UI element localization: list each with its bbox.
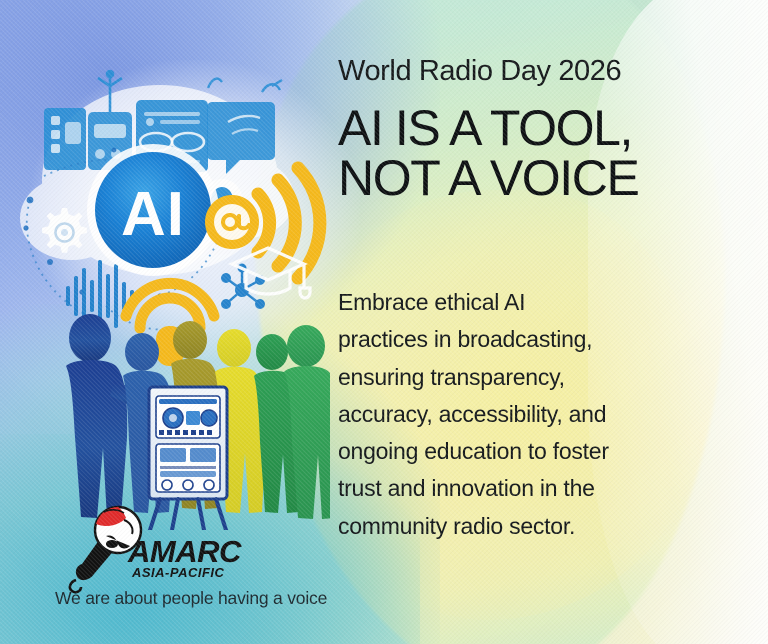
page-title: AI IS A TOOL, NOT A VOICE <box>338 104 728 203</box>
ai-badge-label: AI <box>121 180 185 249</box>
amarc-wordmark: AMARC <box>127 534 242 569</box>
body-line: accuracy, accessibility, and <box>338 396 716 433</box>
body-line: ongoing education to foster <box>338 433 716 470</box>
music-note-icon <box>208 79 282 92</box>
headline-line-2: NOT A VOICE <box>338 154 728 204</box>
logo-tagline: We are about people having a voice <box>55 588 327 609</box>
world-radio-day-poster: AI <box>0 0 768 644</box>
amarc-region: ASIA-PACIFIC <box>131 565 225 580</box>
body-line: ensuring transparency, <box>338 359 716 396</box>
text-column: World Radio Day 2026 AI IS A TOOL, NOT A… <box>338 56 728 203</box>
ai-radio-illustration: AI <box>10 30 330 530</box>
ai-badge: AI <box>87 144 219 276</box>
body-line: trust and innovation in the <box>338 470 716 507</box>
kicker-text: World Radio Day 2026 <box>338 56 728 86</box>
gear-icon <box>42 208 87 253</box>
headline-line-1: AI IS A TOOL, <box>338 104 728 154</box>
radio-receiver-icon <box>44 108 86 170</box>
body-line: Embrace ethical AI <box>338 284 716 321</box>
at-symbol-icon <box>205 195 259 249</box>
body-paragraph: Embrace ethical AI practices in broadcas… <box>338 284 716 545</box>
body-line: community radio sector. <box>338 508 716 545</box>
body-line: practices in broadcasting, <box>338 321 716 358</box>
